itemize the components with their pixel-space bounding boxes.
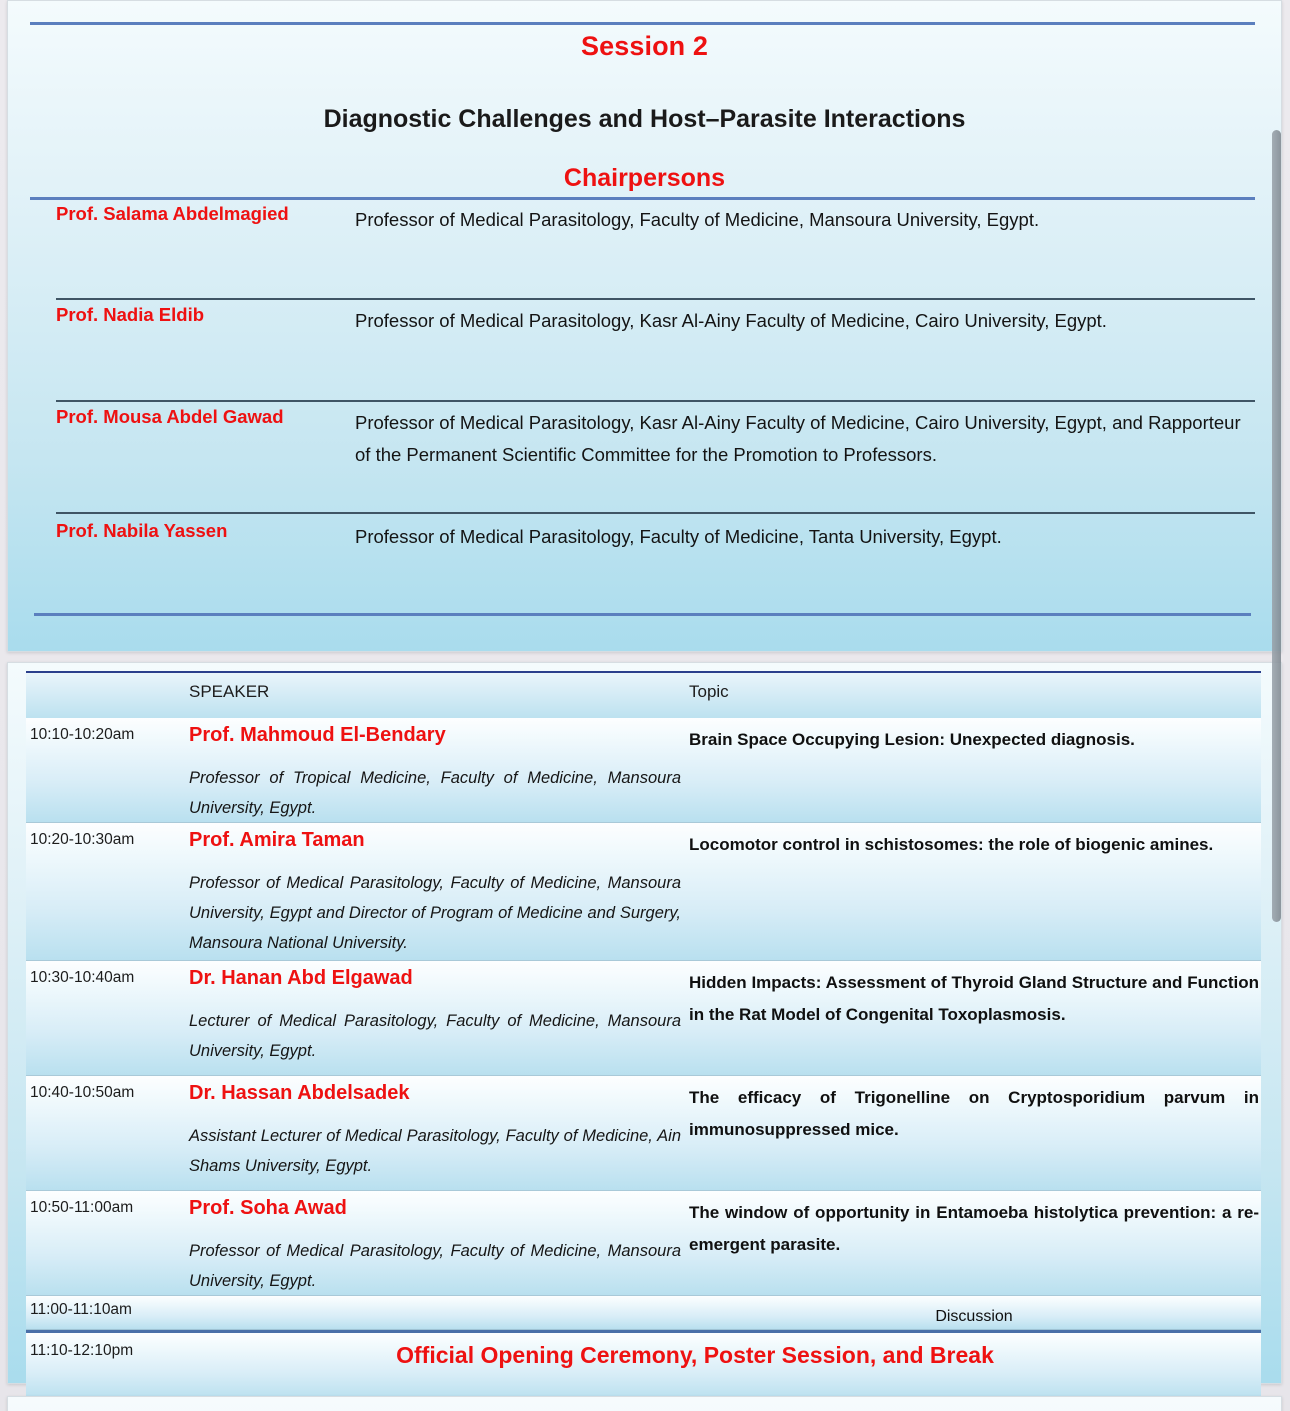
table-row: 10:50-11:00am Prof. Soha Awad Professor … (26, 1191, 1261, 1296)
bottom-divider (34, 613, 1251, 616)
cell-time: 10:20-10:30am (30, 831, 180, 849)
cell-time: 10:30-10:40am (30, 969, 180, 987)
cell-time: 10:50-11:00am (30, 1199, 180, 1217)
cell-speaker: Dr. Hanan Abd Elgawad Lecturer of Medica… (189, 967, 689, 1066)
slide-next-partial (7, 1396, 1282, 1411)
slide-session-header: Session 2 Diagnostic Challenges and Host… (7, 0, 1282, 652)
chairperson-affiliation: Professor of Medical Parasitology, Facul… (355, 204, 1249, 236)
speaker-name: Prof. Mahmoud El-Bendary (189, 724, 689, 747)
table-row-finale: 11:10-12:10pm Official Opening Ceremony,… (26, 1330, 1261, 1399)
column-header-speaker: SPEAKER (189, 682, 269, 702)
scrollbar-thumb[interactable] (1272, 130, 1281, 922)
page-title: Session 2 (8, 31, 1281, 62)
speaker-affiliation: Professor of Tropical Medicine, Faculty … (189, 763, 681, 823)
cell-time: 11:00-11:10am (30, 1301, 180, 1319)
schedule-table: SPEAKER Topic 10:10-10:20am Prof. Mahmou… (26, 673, 1261, 1373)
cell-topic: Locomotor control in schistosomes: the r… (689, 829, 1259, 861)
chairperson-name: Prof. Nadia Eldib (56, 304, 346, 326)
speaker-name: Prof. Amira Taman (189, 829, 689, 852)
document-viewer-page: Session 2 Diagnostic Challenges and Host… (0, 0, 1290, 1411)
chairperson-separator (56, 400, 1255, 402)
table-row-discussion: 11:00-11:10am Discussion (26, 1296, 1261, 1330)
speaker-name: Prof. Soha Awad (189, 1197, 689, 1220)
table-row: 10:20-10:30am Prof. Amira Taman Professo… (26, 823, 1261, 961)
scrollbar[interactable] (1276, 0, 1290, 1411)
cell-time: 10:40-10:50am (30, 1084, 180, 1102)
cell-speaker: Prof. Amira Taman Professor of Medical P… (189, 829, 689, 958)
cell-time: 11:10-12:10pm (30, 1342, 180, 1360)
table-row: 10:10-10:20am Prof. Mahmoud El-Bendary P… (26, 718, 1261, 823)
speaker-affiliation: Professor of Medical Parasitology, Facul… (189, 1236, 681, 1296)
cell-speaker: Prof. Mahmoud El-Bendary Professor of Tr… (189, 724, 689, 823)
speaker-name: Dr. Hanan Abd Elgawad (189, 967, 689, 990)
cell-discussion-label: Discussion (689, 1301, 1259, 1333)
cell-speaker: Prof. Soha Awad Professor of Medical Par… (189, 1197, 689, 1296)
chairperson-affiliation: Professor of Medical Parasitology, Facul… (355, 521, 1249, 553)
speaker-affiliation: Lecturer of Medical Parasitology, Facult… (189, 1006, 681, 1066)
chairperson-affiliation: Professor of Medical Parasitology, Kasr … (355, 305, 1249, 337)
chairpersons-top-rule (30, 197, 1255, 200)
speaker-name: Dr. Hassan Abdelsadek (189, 1082, 689, 1105)
cell-topic: The efficacy of Trigonelline on Cryptosp… (689, 1082, 1259, 1146)
cell-finale-label: Official Opening Ceremony, Poster Sessio… (189, 1339, 1201, 1371)
cell-time: 10:10-10:20am (30, 726, 180, 744)
top-divider (30, 22, 1255, 25)
chairperson-name: Prof. Nabila Yassen (56, 520, 346, 542)
session-subtitle: Diagnostic Challenges and Host–Parasite … (8, 105, 1281, 134)
cell-topic: Hidden Impacts: Assessment of Thyroid Gl… (689, 967, 1259, 1031)
column-header-topic: Topic (689, 682, 729, 702)
table-header-row: SPEAKER Topic (26, 673, 1261, 718)
cell-topic: Brain Space Occupying Lesion: Unexpected… (689, 724, 1259, 756)
cell-speaker: Dr. Hassan Abdelsadek Assistant Lecturer… (189, 1082, 689, 1181)
chairperson-separator (56, 298, 1255, 300)
chairperson-separator (56, 512, 1255, 514)
table-row: 10:40-10:50am Dr. Hassan Abdelsadek Assi… (26, 1076, 1261, 1191)
speaker-affiliation: Assistant Lecturer of Medical Parasitolo… (189, 1121, 681, 1181)
chairperson-affiliation: Professor of Medical Parasitology, Kasr … (355, 407, 1249, 471)
chairpersons-heading: Chairpersons (8, 164, 1281, 193)
speaker-affiliation: Professor of Medical Parasitology, Facul… (189, 868, 681, 958)
cell-topic: The window of opportunity in Entamoeba h… (689, 1197, 1259, 1261)
chairperson-name: Prof. Salama Abdelmagied (56, 203, 346, 225)
chairperson-name: Prof. Mousa Abdel Gawad (56, 406, 346, 428)
table-row: 10:30-10:40am Dr. Hanan Abd Elgawad Lect… (26, 961, 1261, 1076)
slide-schedule-table: SPEAKER Topic 10:10-10:20am Prof. Mahmou… (7, 662, 1282, 1384)
